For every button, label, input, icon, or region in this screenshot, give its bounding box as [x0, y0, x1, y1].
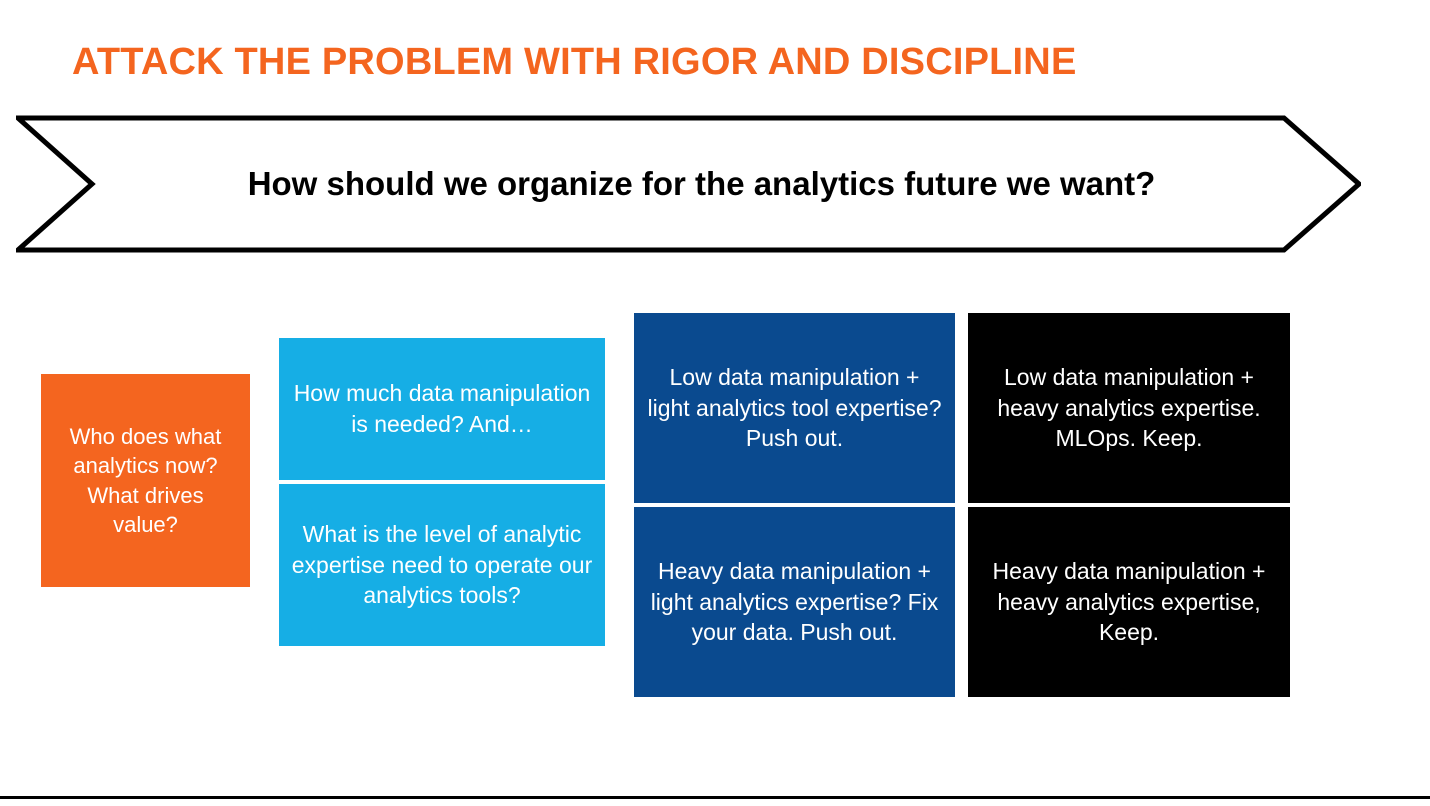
matrix-cell-light-blue-2: What is the level of analytic expertise … — [279, 484, 605, 646]
banner-question-text: How should we organize for the analytics… — [16, 115, 1361, 253]
matrix-cell-dark-blue-2: Heavy data manipulation + light analytic… — [634, 507, 955, 697]
matrix-cell-black-1: Low data manipulation + heavy analytics … — [968, 313, 1290, 503]
chevron-banner: How should we organize for the analytics… — [16, 115, 1361, 253]
slide-canvas: ATTACK THE PROBLEM WITH RIGOR AND DISCIP… — [0, 0, 1430, 806]
matrix-cell-orange-1: Who does what analytics now? What drives… — [41, 374, 250, 587]
matrix-cell-light-blue-1: How much data manipulation is needed? An… — [279, 338, 605, 480]
matrix-cell-dark-blue-1: Low data manipulation + light analytics … — [634, 313, 955, 503]
matrix-cell-black-2: Heavy data manipulation + heavy analytic… — [968, 507, 1290, 697]
footer-divider — [0, 796, 1430, 799]
page-title: ATTACK THE PROBLEM WITH RIGOR AND DISCIP… — [72, 42, 1362, 84]
